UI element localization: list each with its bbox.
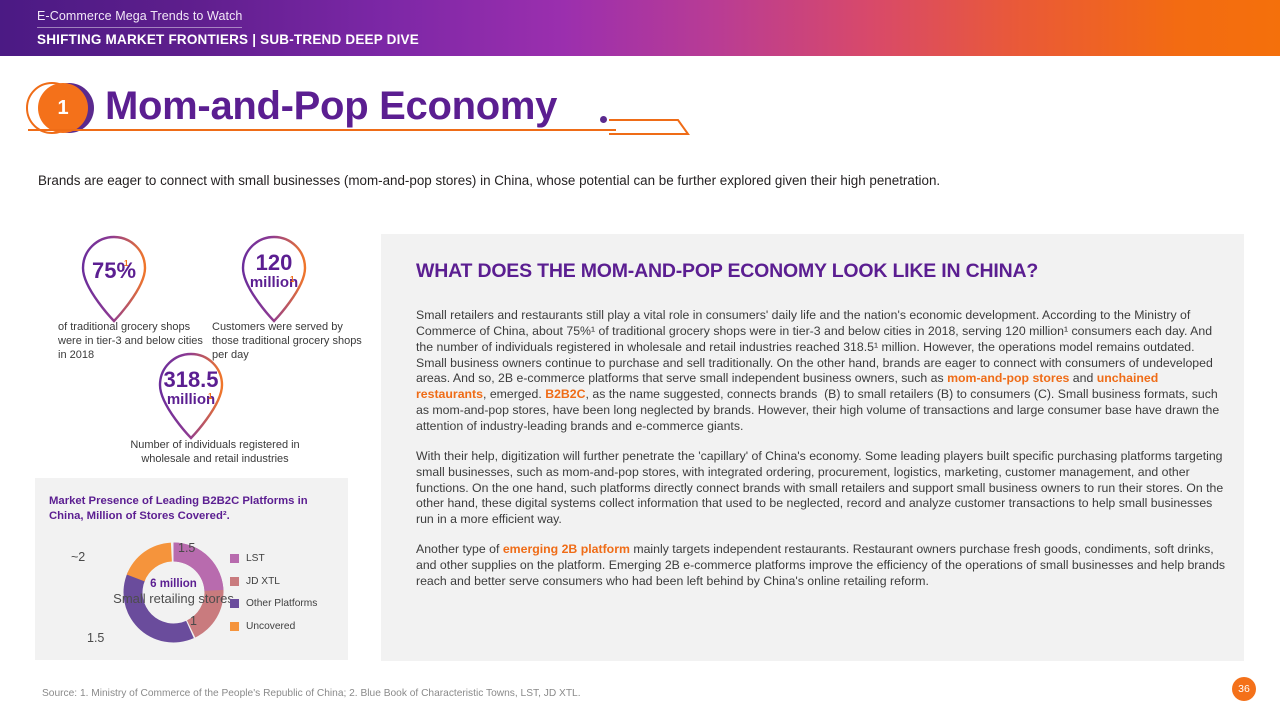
legend-item-uncovered: Uncovered — [230, 621, 317, 632]
slide-header-bar: E-Commerce Mega Trends to Watch SHIFTING… — [0, 0, 1280, 56]
highlight-term: B2B2C — [545, 387, 585, 401]
source-note: Source: 1. Ministry of Commerce of the P… — [42, 688, 581, 699]
panel-paragraph: Small retailers and restaurants still pl… — [416, 308, 1228, 435]
page-number-badge: 36 — [1232, 677, 1256, 701]
pin-stat-3-caption: Number of individuals registered in whol… — [120, 438, 310, 466]
pin-stat-2-number: 120 — [238, 252, 310, 274]
donut-center-value: 6 million — [150, 578, 197, 592]
legend-label-uncovered: Uncovered — [246, 621, 295, 632]
legend-swatch-jdxtl — [230, 577, 239, 586]
pin-stat-2-unit: million — [238, 275, 310, 290]
pin-stat-2-footnote: 1 — [290, 275, 294, 284]
donut-value-label-uncovered: ~2 — [71, 550, 85, 564]
lead-paragraph: Brands are eager to connect with small b… — [38, 172, 1218, 190]
highlight-term: mom-and-pop stores — [947, 371, 1069, 385]
header-title: SHIFTING MARKET FRONTIERS | SUB-TREND DE… — [37, 32, 419, 47]
panel-paragraph: With their help, digitization will furth… — [416, 449, 1228, 528]
paragraph-text: , emerged. — [483, 387, 545, 401]
donut-value-label-other: 1.5 — [87, 631, 104, 645]
pin-stat-3-number: 318.5 — [155, 369, 227, 391]
pin-stats-group: 75% 1 of traditional grocery shops were … — [40, 228, 370, 468]
donut-center-sublabel: Small retailing stores — [113, 592, 234, 607]
paragraph-text: With their help, digitization will furth… — [416, 449, 1223, 526]
page-title: Mom-and-Pop Economy — [105, 84, 557, 129]
paragraph-text: Another type of — [416, 542, 503, 556]
pin-stat-3-value: 318.5 million — [155, 369, 227, 407]
title-arrow-decoration-icon — [608, 108, 690, 141]
pin-stat-1-number: 75% — [78, 260, 150, 282]
header-eyebrow: E-Commerce Mega Trends to Watch — [37, 9, 242, 28]
legend-item-jdxtl: JD XTL — [230, 576, 317, 587]
donut-chart: 6 million Small retailing stores — [112, 531, 235, 654]
paragraph-text: and — [1069, 371, 1096, 385]
pin-stat-1: 75% 1 — [78, 234, 150, 324]
legend-label-lst: LST — [246, 553, 265, 564]
highlight-term: emerging 2B platform — [503, 542, 630, 556]
pin-stat-1-footnote: 1 — [124, 259, 128, 268]
pin-stat-3-footnote: 1 — [208, 392, 212, 401]
legend-item-other: Other Platforms — [230, 598, 317, 609]
pin-stat-3-unit: million — [155, 392, 227, 407]
legend-label-jdxtl: JD XTL — [246, 576, 280, 587]
pin-stat-2: 120 million 1 — [238, 234, 310, 324]
pin-stat-2-caption: Customers were served by those tradition… — [212, 320, 362, 362]
legend-swatch-other — [230, 599, 239, 608]
legend-swatch-uncovered — [230, 622, 239, 631]
legend-swatch-lst — [230, 554, 239, 563]
donut-legend: LST JD XTL Other Platforms Uncovered — [230, 553, 317, 643]
title-accent-dot-icon — [600, 116, 607, 123]
donut-value-label-jdxtl: 1 — [190, 614, 197, 628]
title-underline-rule — [28, 129, 616, 131]
pin-stat-1-value: 75% — [78, 260, 150, 282]
legend-item-lst: LST — [230, 553, 317, 564]
panel-paragraph: Another type of emerging 2B platform mai… — [416, 542, 1228, 590]
chart-title: Market Presence of Leading B2B2C Platfor… — [49, 494, 341, 524]
pin-stat-3: 318.5 million 1 — [155, 351, 227, 441]
legend-label-other: Other Platforms — [246, 598, 317, 609]
donut-value-label-lst: 1.5 — [178, 541, 195, 555]
slide: E-Commerce Mega Trends to Watch SHIFTING… — [0, 0, 1280, 720]
donut-center-label: 6 million Small retailing stores — [112, 531, 235, 654]
pin-stat-2-value: 120 million — [238, 252, 310, 290]
panel-title: WHAT DOES THE MOM-AND-POP ECONOMY LOOK L… — [416, 260, 1206, 283]
panel-body: Small retailers and restaurants still pl… — [416, 308, 1228, 604]
info-panel: WHAT DOES THE MOM-AND-POP ECONOMY LOOK L… — [381, 234, 1244, 661]
section-number-badge: 1 — [38, 83, 88, 133]
